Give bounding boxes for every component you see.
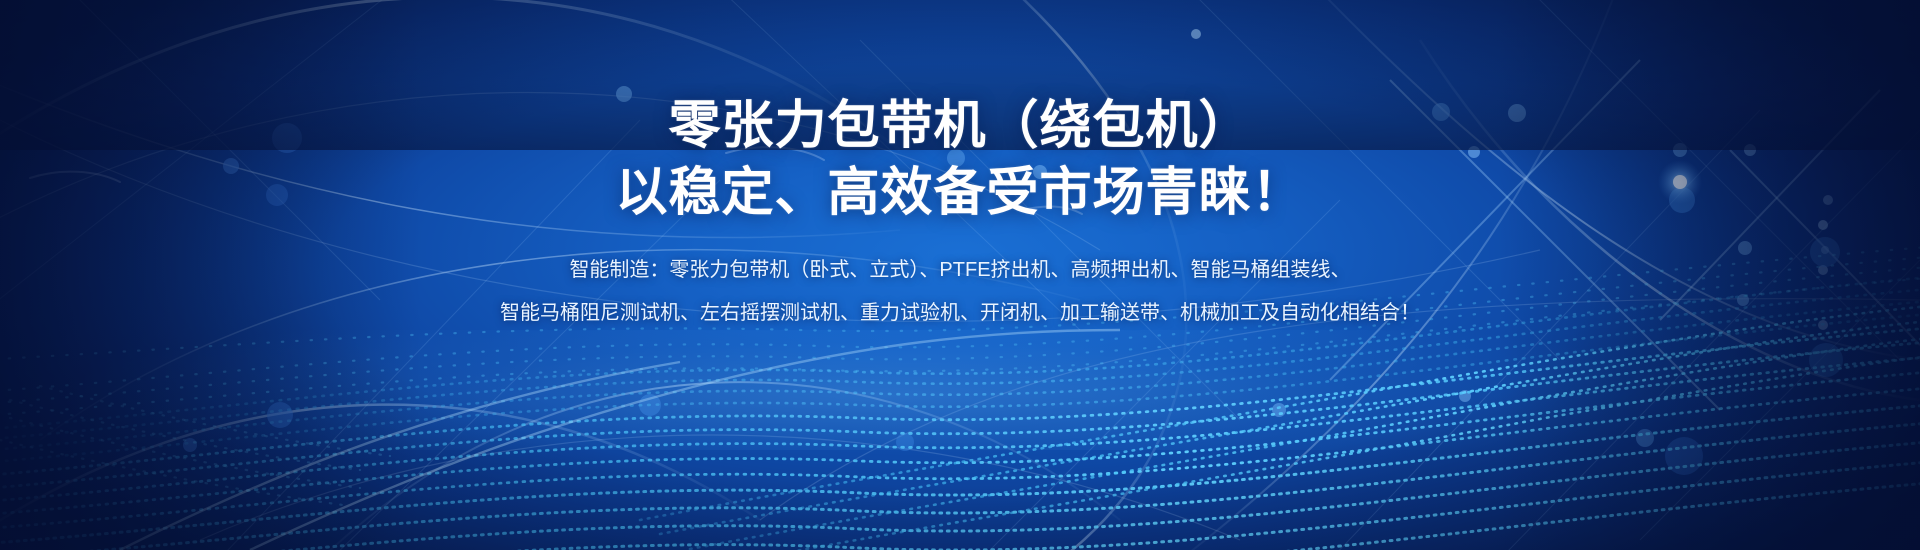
headline-line-2: 以稳定、高效备受市场青睐！ <box>615 163 1304 224</box>
subtitle-line-2: 智能马桶阻尼测试机、左右摇摆测试机、重力试验机、开闭机、加工输送带、机械加工及自… <box>500 298 1420 329</box>
hero-banner: 零张力包带机（绕包机） 以稳定、高效备受市场青睐！ 智能制造：零张力包带机（卧式… <box>0 0 1920 550</box>
headline-line-1: 零张力包带机（绕包机） <box>668 96 1251 157</box>
subtitle-line-1: 智能制造：零张力包带机（卧式、立式）、PTFE挤出机、高频押出机、智能马桶组装线… <box>569 255 1350 286</box>
banner-content: 零张力包带机（绕包机） 以稳定、高效备受市场青睐！ 智能制造：零张力包带机（卧式… <box>0 0 1920 550</box>
